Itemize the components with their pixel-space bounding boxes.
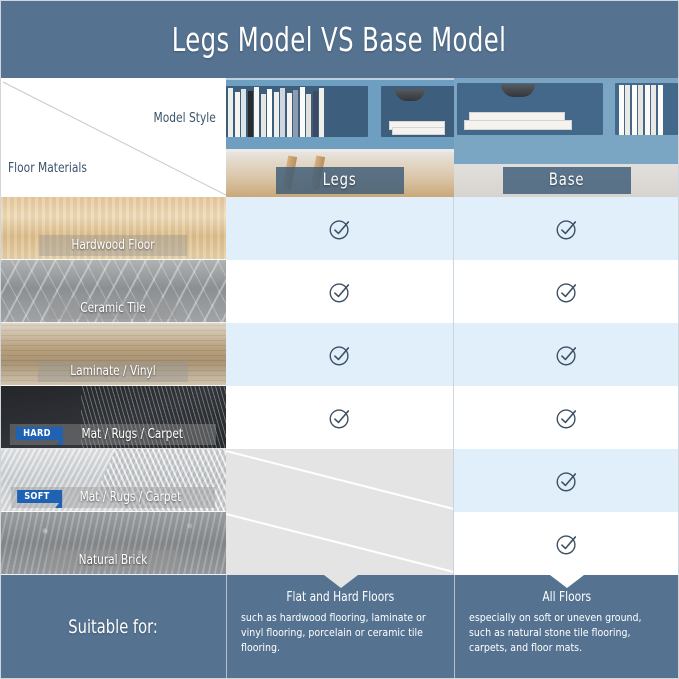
table-row: Hardwood Floor <box>0 197 679 260</box>
material-label: Natural Brick <box>79 552 148 568</box>
page-title: Legs Model VS Base Model <box>172 20 507 59</box>
corner-label-model-style: Model Style <box>154 110 216 126</box>
photo-shelf-cavity-4 <box>615 83 678 134</box>
check-circle-icon <box>327 342 353 368</box>
table-row: HARD Mat / Rugs / Carpet <box>0 386 679 449</box>
check-circle-icon <box>554 531 580 557</box>
photo-shelf-cavity-2 <box>381 86 454 137</box>
check-circle-icon <box>554 216 580 242</box>
cell-legs-hardwood-floor <box>226 197 454 260</box>
table-row: Ceramic Tile <box>0 260 679 323</box>
cell-base-soft-mat <box>454 449 679 512</box>
check-circle-icon <box>554 279 580 305</box>
product-photo-legs: Legs <box>226 78 454 197</box>
photo-shelf-body <box>226 80 454 149</box>
material-caption: Natural Brick <box>47 550 178 571</box>
summary-label-text: Suitable for: <box>68 616 158 638</box>
photo-decor-bowl <box>395 89 425 101</box>
material-label: Ceramic Tile <box>80 300 146 316</box>
summary-base-heading: All Floors <box>543 589 592 605</box>
notch-pointer-legs <box>324 575 358 588</box>
strike-through-icon <box>226 449 454 512</box>
comparison-chart: Legs Model VS Base Model Model Style Flo… <box>0 0 679 679</box>
summary-label: Suitable for: <box>0 575 226 679</box>
summary-legs: Flat and Hard Floors such as hardwood fl… <box>226 575 454 679</box>
header-row: Model Style Floor Materials <box>0 78 679 197</box>
notch-pointer-base <box>550 575 584 588</box>
photo-book-row <box>228 86 362 137</box>
photo-book-stack-4 <box>464 120 572 130</box>
strike-through-icon <box>226 512 454 575</box>
photo-decor-bowl-2 <box>501 84 535 97</box>
photo-book-stack-2 <box>392 127 446 135</box>
material-label: Mat / Rugs / Carpet <box>81 426 183 442</box>
cell-legs-natural-brick <box>226 512 454 575</box>
summary-legs-body: such as hardwood flooring, laminate or v… <box>241 611 440 656</box>
check-circle-icon <box>554 342 580 368</box>
cell-legs-ceramic-tile <box>226 260 454 323</box>
check-circle-icon <box>327 405 353 431</box>
hardness-badge-soft: SOFT <box>17 490 62 503</box>
diagonal-divider-icon <box>0 78 226 197</box>
material-cell-natural-brick: Natural Brick <box>0 512 226 575</box>
material-label: Mat / Rugs / Carpet <box>80 489 182 505</box>
check-circle-icon <box>327 279 353 305</box>
material-cell-ceramic-tile: Ceramic Tile <box>0 260 226 323</box>
column-caption-base-text: Base <box>549 170 584 190</box>
material-cell-hardwood-floor: Hardwood Floor <box>0 197 226 260</box>
material-cell-soft-mat-rugs-carpet: SOFT Mat / Rugs / Carpet <box>0 449 226 512</box>
cell-legs-laminate-vinyl <box>226 323 454 386</box>
summary-base-body: especially on soft or uneven ground, suc… <box>469 611 665 656</box>
material-caption: Ceramic Tile <box>49 298 176 319</box>
chart-title-bar: Legs Model VS Base Model <box>0 0 679 78</box>
summary-base-heading-wrap: All Floors <box>469 589 665 605</box>
cell-base-hard-mat <box>454 386 679 449</box>
material-caption: SOFT Mat / Rugs / Carpet <box>11 487 215 508</box>
check-circle-icon <box>554 405 580 431</box>
check-circle-icon <box>554 468 580 494</box>
column-caption-legs-text: Legs <box>323 170 357 190</box>
table-row: SOFT Mat / Rugs / Carpet <box>0 449 679 512</box>
corner-header-cell: Model Style Floor Materials <box>0 78 226 197</box>
material-caption: Laminate / Vinyl <box>38 361 188 382</box>
cell-base-laminate-vinyl <box>454 323 679 386</box>
summary-row: Suitable for: Flat and Hard Floors such … <box>0 575 679 679</box>
summary-legs-heading: Flat and Hard Floors <box>287 589 395 605</box>
material-cell-laminate-vinyl: Laminate / Vinyl <box>0 323 226 386</box>
cell-base-ceramic-tile <box>454 260 679 323</box>
corner-label-floor-materials: Floor Materials <box>8 160 87 176</box>
hardness-badge-soft-text: SOFT <box>24 491 49 502</box>
material-label: Hardwood Floor <box>71 237 154 253</box>
photo-shelf-cavity <box>226 86 368 137</box>
material-caption: HARD Mat / Rugs / Carpet <box>10 424 216 445</box>
material-cell-hard-mat-rugs-carpet: HARD Mat / Rugs / Carpet <box>0 386 226 449</box>
summary-base: All Floors especially on soft or uneven … <box>454 575 679 679</box>
table-row: Natural Brick <box>0 512 679 575</box>
photo-book-row-2 <box>619 83 676 134</box>
hardness-badge-hard: HARD <box>16 427 63 440</box>
photo-shelf-body-2 <box>454 78 679 164</box>
cell-base-hardwood-floor <box>454 197 679 260</box>
hardness-badge-hard-text: HARD <box>23 428 51 439</box>
product-photo-base: Base <box>454 78 679 197</box>
column-caption-base: Base <box>503 167 631 194</box>
material-caption: Hardwood Floor <box>39 235 187 256</box>
cell-legs-soft-mat <box>226 449 454 512</box>
column-caption-legs: Legs <box>276 167 404 194</box>
check-circle-icon <box>327 216 353 242</box>
cell-legs-hard-mat <box>226 386 454 449</box>
table-row: Laminate / Vinyl <box>0 323 679 386</box>
photo-shelf-cavity-3 <box>457 83 603 134</box>
cell-base-natural-brick <box>454 512 679 575</box>
summary-legs-heading-wrap: Flat and Hard Floors <box>241 589 440 605</box>
material-label: Laminate / Vinyl <box>70 363 155 379</box>
